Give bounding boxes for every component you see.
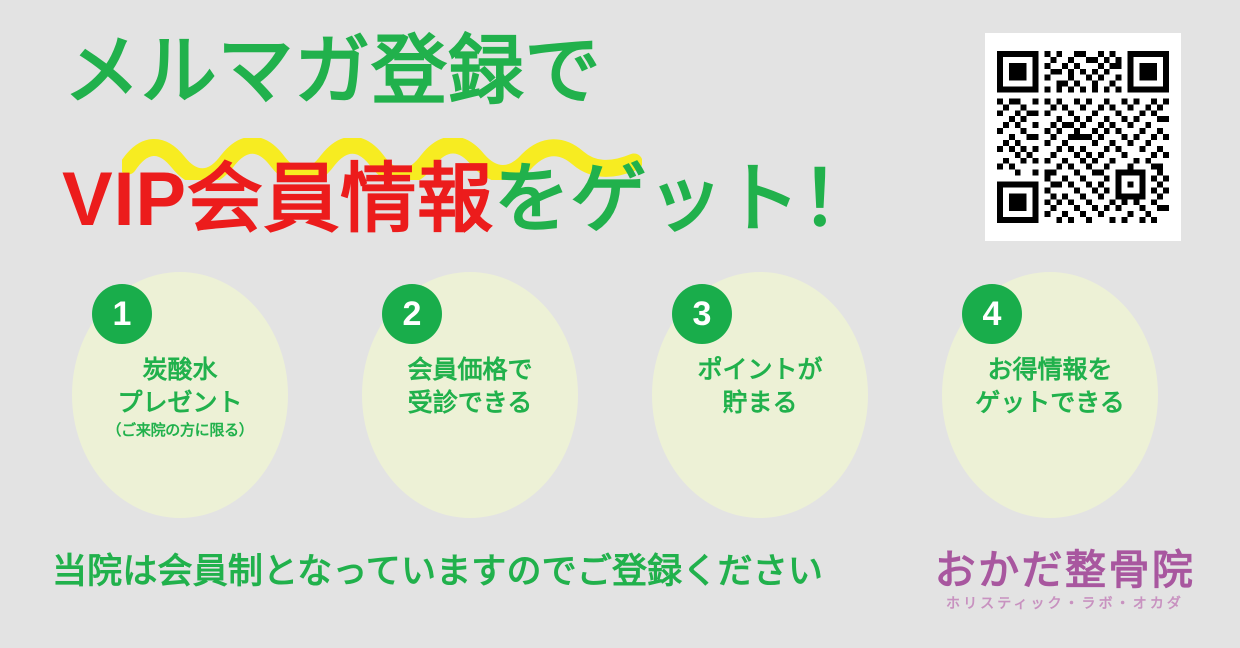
qr-code-icon[interactable] bbox=[997, 49, 1169, 225]
benefit-text-4: お得情報を ゲットできる bbox=[942, 354, 1158, 420]
benefit-number-badge-2: 2 bbox=[382, 284, 442, 344]
headline-vip-text: VIP会員情報 bbox=[62, 157, 494, 242]
benefit-line1-3: ポイントが bbox=[697, 356, 822, 384]
headline-block: メルマガ登録で VIP会員情報をゲット！ bbox=[62, 34, 962, 249]
benefit-number-badge-4: 4 bbox=[962, 284, 1022, 344]
benefit-text-2: 会員価格で 受診できる bbox=[362, 354, 578, 420]
benefit-number-badge-1: 1 bbox=[92, 284, 152, 344]
promo-banner: メルマガ登録で VIP会員情報をゲット！ bbox=[0, 0, 1240, 648]
benefit-line2-3: 貯まる bbox=[722, 389, 797, 417]
benefit-line1-2: 会員価格で bbox=[407, 356, 532, 384]
benefit-text-1: 炭酸水 プレゼント （ご来院の方に限る） bbox=[72, 354, 288, 443]
benefit-number-badge-3: 3 bbox=[672, 284, 732, 344]
benefit-line2-1: プレゼント bbox=[117, 389, 242, 417]
footer-note: 当院は会員制となっていますのでご登録ください bbox=[52, 553, 823, 592]
benefit-line2-4: ゲットできる bbox=[975, 389, 1125, 417]
clinic-logo-name: おかだ整骨院 bbox=[910, 548, 1220, 592]
benefit-note-1: （ご来院の方に限る） bbox=[72, 420, 288, 443]
benefit-text-3: ポイントが 貯まる bbox=[652, 354, 868, 420]
benefit-item-1: 1 炭酸水 プレゼント （ご来院の方に限る） bbox=[72, 272, 288, 518]
benefits-row: 1 炭酸水 プレゼント （ご来院の方に限る） 2 会員価格で 受診できる 3 ポ… bbox=[0, 272, 1240, 522]
benefit-line1-4: お得情報を bbox=[987, 356, 1112, 384]
headline-line-1: メルマガ登録で bbox=[64, 34, 601, 110]
clinic-logo-tagline: ホリスティック・ラボ・オカダ bbox=[910, 596, 1220, 611]
clinic-logo: おかだ整骨院 ホリスティック・ラボ・オカダ bbox=[910, 548, 1220, 626]
qr-code-panel[interactable] bbox=[985, 33, 1181, 241]
benefit-item-2: 2 会員価格で 受診できる bbox=[362, 272, 578, 518]
benefit-line1-1: 炭酸水 bbox=[142, 356, 217, 384]
headline-get-text: をゲット！ bbox=[494, 157, 878, 242]
headline-line-2: VIP会員情報をゲット！ bbox=[62, 162, 878, 238]
benefit-item-3: 3 ポイントが 貯まる bbox=[652, 272, 868, 518]
benefit-line2-2: 受診できる bbox=[408, 389, 533, 417]
benefit-item-4: 4 お得情報を ゲットできる bbox=[942, 272, 1158, 518]
